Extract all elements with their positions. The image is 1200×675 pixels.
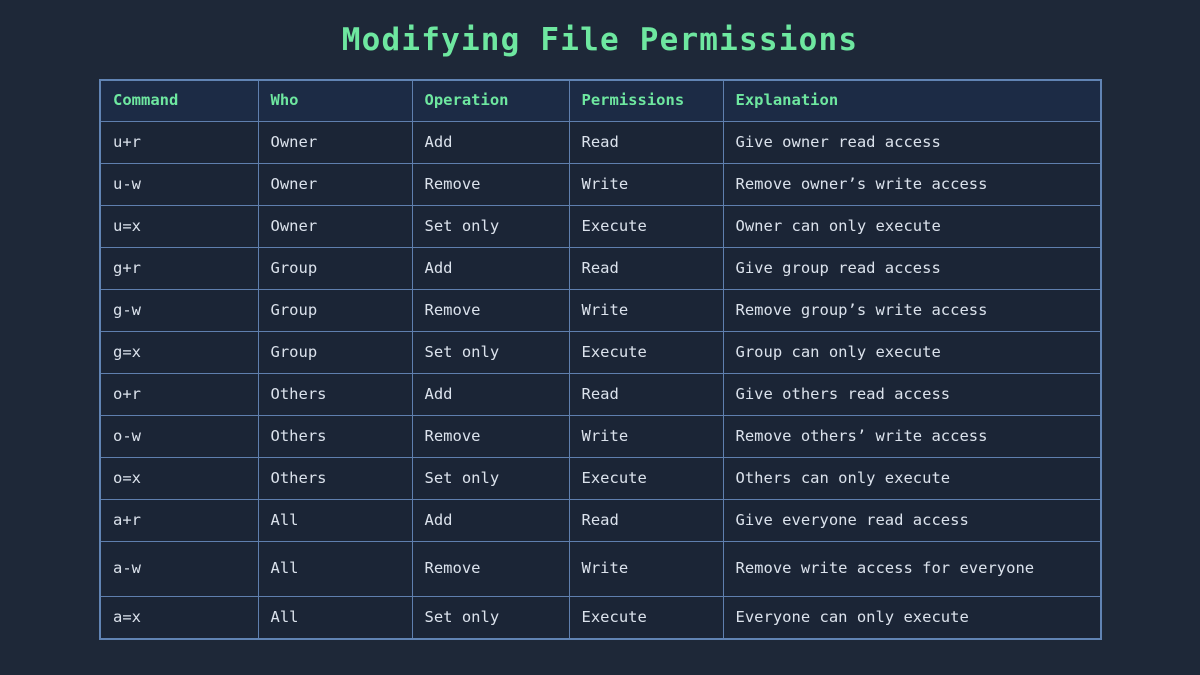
table-cell-operation: Add [412,374,569,416]
table-cell-who: Others [258,374,412,416]
table-header-row: Command Who Operation Permissions Explan… [100,80,1101,122]
permissions-reference-page: Modifying File Permissions Command Who O… [0,0,1200,675]
table-cell-who: Group [258,248,412,290]
table-cell-explanation: Owner can only execute [723,206,1101,248]
table-cell-who: Others [258,416,412,458]
table-row: a-wAllRemoveWriteRemove write access for… [100,542,1101,597]
table-cell-permissions: Read [569,248,723,290]
table-cell-command: g=x [100,332,258,374]
table-cell-permissions: Write [569,416,723,458]
table-cell-permissions: Execute [569,332,723,374]
table-cell-command: g+r [100,248,258,290]
table-cell-who: All [258,542,412,597]
table-cell-operation: Add [412,122,569,164]
table-cell-operation: Set only [412,332,569,374]
table-row: u+rOwnerAddReadGive owner read access [100,122,1101,164]
table-cell-permissions: Write [569,290,723,332]
table-cell-explanation: Remove write access for everyone [723,542,1101,597]
table-cell-explanation: Remove others’ write access [723,416,1101,458]
permissions-table: Command Who Operation Permissions Explan… [99,79,1102,640]
column-header-who: Who [258,80,412,122]
table-cell-command: o-w [100,416,258,458]
table-cell-operation: Remove [412,290,569,332]
table-cell-who: Owner [258,206,412,248]
table-row: a=xAllSet onlyExecuteEveryone can only e… [100,597,1101,640]
table-cell-explanation: Give others read access [723,374,1101,416]
permissions-table-container: Command Who Operation Permissions Explan… [99,79,1100,640]
table-header: Command Who Operation Permissions Explan… [100,80,1101,122]
table-cell-operation: Remove [412,164,569,206]
table-cell-permissions: Read [569,374,723,416]
table-cell-command: a+r [100,500,258,542]
column-header-permissions: Permissions [569,80,723,122]
table-cell-who: Owner [258,122,412,164]
table-cell-command: u=x [100,206,258,248]
table-cell-explanation: Remove owner’s write access [723,164,1101,206]
table-cell-operation: Add [412,500,569,542]
table-cell-command: a=x [100,597,258,640]
page-title: Modifying File Permissions [0,22,1200,58]
column-header-operation: Operation [412,80,569,122]
table-cell-operation: Remove [412,416,569,458]
table-cell-permissions: Write [569,164,723,206]
table-cell-command: g-w [100,290,258,332]
table-row: o=xOthersSet onlyExecuteOthers can only … [100,458,1101,500]
table-row: u-wOwnerRemoveWriteRemove owner’s write … [100,164,1101,206]
column-header-explanation: Explanation [723,80,1101,122]
table-cell-who: Group [258,332,412,374]
table-row: g=xGroupSet onlyExecuteGroup can only ex… [100,332,1101,374]
table-cell-command: u+r [100,122,258,164]
table-row: o-wOthersRemoveWriteRemove others’ write… [100,416,1101,458]
table-cell-permissions: Execute [569,597,723,640]
table-cell-operation: Set only [412,206,569,248]
table-cell-permissions: Write [569,542,723,597]
table-cell-command: u-w [100,164,258,206]
table-row: g+rGroupAddReadGive group read access [100,248,1101,290]
table-cell-command: o=x [100,458,258,500]
table-row: o+rOthersAddReadGive others read access [100,374,1101,416]
table-cell-explanation: Group can only execute [723,332,1101,374]
table-cell-explanation: Give owner read access [723,122,1101,164]
table-row: u=xOwnerSet onlyExecuteOwner can only ex… [100,206,1101,248]
table-cell-permissions: Read [569,122,723,164]
table-cell-explanation: Others can only execute [723,458,1101,500]
table-cell-explanation: Remove group’s write access [723,290,1101,332]
table-cell-who: All [258,597,412,640]
table-cell-explanation: Give group read access [723,248,1101,290]
table-cell-operation: Set only [412,597,569,640]
table-cell-permissions: Execute [569,206,723,248]
table-cell-who: All [258,500,412,542]
table-cell-explanation: Give everyone read access [723,500,1101,542]
table-cell-explanation: Everyone can only execute [723,597,1101,640]
table-cell-command: a-w [100,542,258,597]
table-cell-who: Owner [258,164,412,206]
table-cell-who: Others [258,458,412,500]
column-header-command: Command [100,80,258,122]
table-row: a+rAllAddReadGive everyone read access [100,500,1101,542]
table-cell-who: Group [258,290,412,332]
table-cell-permissions: Execute [569,458,723,500]
table-body: u+rOwnerAddReadGive owner read accessu-w… [100,122,1101,640]
table-cell-operation: Set only [412,458,569,500]
table-cell-permissions: Read [569,500,723,542]
table-cell-operation: Add [412,248,569,290]
table-row: g-wGroupRemoveWriteRemove group’s write … [100,290,1101,332]
table-cell-command: o+r [100,374,258,416]
table-cell-operation: Remove [412,542,569,597]
